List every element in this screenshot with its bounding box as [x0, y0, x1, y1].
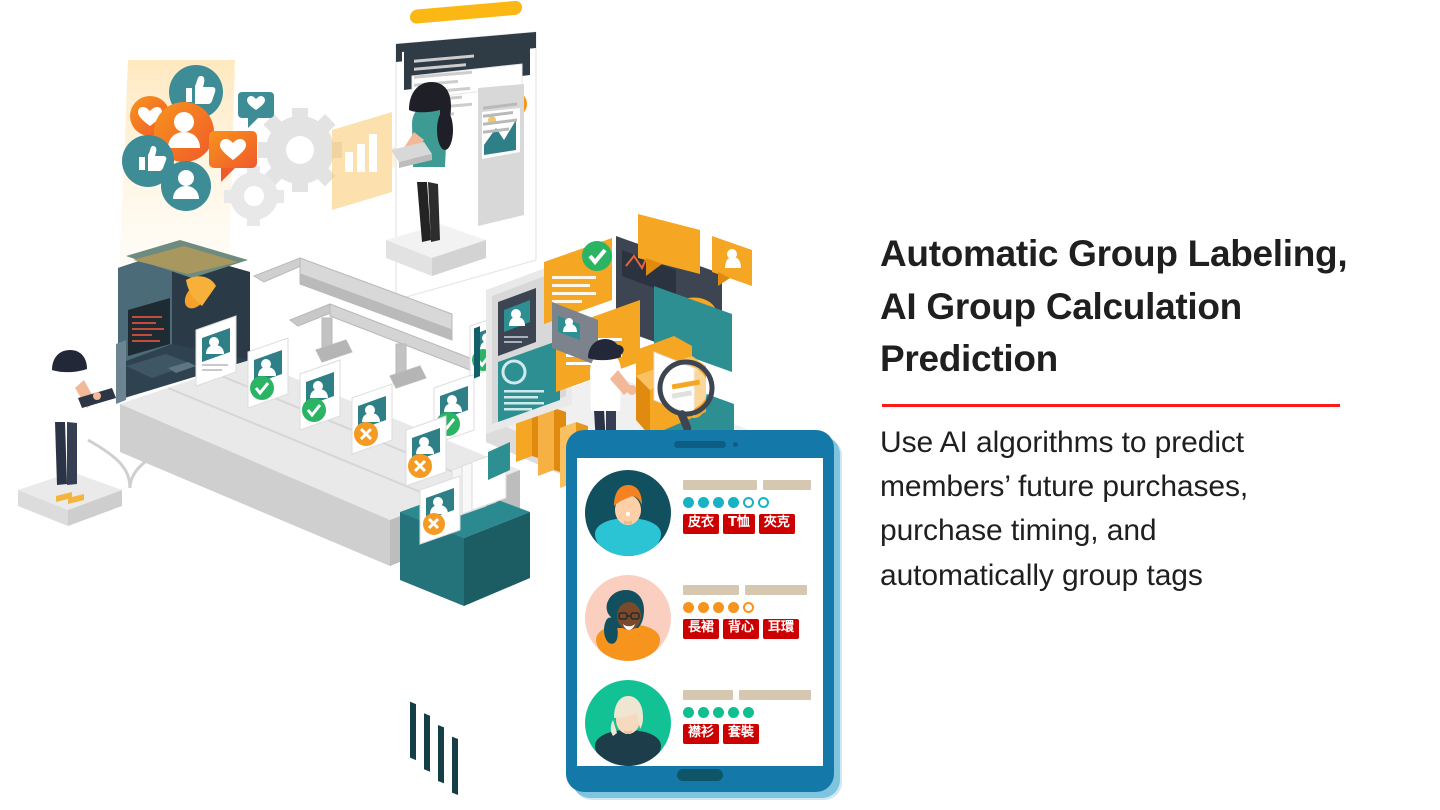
avatar [585, 470, 671, 556]
member-tag[interactable]: 夾克 [759, 514, 795, 534]
rating-dot [698, 707, 709, 718]
rating-dot [728, 497, 739, 508]
name-bar-primary [683, 690, 733, 700]
rating-dot [713, 497, 724, 508]
rating-dot [683, 497, 694, 508]
member-tag[interactable]: T恤 [723, 514, 755, 534]
tablet-device: 皮衣 T恤 夾克 [566, 430, 834, 792]
headline-line: Prediction [880, 338, 1058, 379]
member-tags: 皮衣 T恤 夾克 [683, 514, 809, 534]
member-rating [683, 602, 809, 613]
member-tag[interactable]: 套裝 [723, 724, 759, 744]
member-list-item[interactable]: 皮衣 T恤 夾克 [577, 470, 823, 572]
subtext-line: purchase timing, and [880, 514, 1157, 547]
text-panel: Automatic Group Labeling, AI Group Calcu… [880, 228, 1350, 598]
rating-dot [683, 602, 694, 613]
title-divider [882, 404, 1340, 407]
rating-dot [683, 707, 694, 718]
page-title: Automatic Group Labeling, AI Group Calcu… [880, 228, 1350, 386]
rating-dot [728, 707, 739, 718]
subtext-line: Use AI algorithms to predict [880, 426, 1244, 459]
tablet-screen: 皮衣 T恤 夾克 [577, 458, 823, 766]
slide-root: 皮衣 T恤 夾克 [0, 0, 1440, 810]
member-tag[interactable]: 背心 [723, 619, 759, 639]
rating-dot [713, 602, 724, 613]
member-rating [683, 707, 811, 718]
name-bar-secondary [763, 480, 811, 490]
member-tags: 長裙 背心 耳環 [683, 619, 809, 639]
member-name-placeholder [683, 690, 811, 700]
rating-dot [743, 707, 754, 718]
tablet-home-button[interactable] [677, 769, 723, 781]
rating-dot [728, 602, 739, 613]
tablet-speaker [674, 441, 726, 448]
headline-line: Automatic Group Labeling, [880, 233, 1347, 274]
member-rating [683, 497, 811, 508]
avatar [585, 680, 671, 766]
member-tag[interactable]: 皮衣 [683, 514, 719, 534]
name-bar-secondary [745, 585, 807, 595]
page-subtitle: Use AI algorithms to predict members’ fu… [880, 421, 1350, 599]
rating-dot [743, 602, 754, 613]
member-info: 襟衫 套裝 [683, 680, 811, 744]
rating-dot [713, 707, 724, 718]
member-tag[interactable]: 襟衫 [683, 724, 719, 744]
name-bar-primary [683, 585, 739, 595]
rating-dot [758, 497, 769, 508]
member-info: 長裙 背心 耳環 [683, 575, 809, 639]
avatar [585, 575, 671, 661]
member-info: 皮衣 T恤 夾克 [683, 470, 811, 534]
rating-dot [698, 497, 709, 508]
name-bar-primary [683, 480, 757, 490]
member-tag[interactable]: 長裙 [683, 619, 719, 639]
subtext-line: automatically group tags [880, 559, 1203, 592]
headline-line: AI Group Calculation [880, 286, 1242, 327]
tablet-camera-icon [733, 442, 738, 447]
member-list-item[interactable]: 襟衫 套裝 [577, 680, 823, 766]
member-tag[interactable]: 耳環 [763, 619, 799, 639]
member-name-placeholder [683, 480, 811, 490]
name-bar-secondary [739, 690, 811, 700]
rating-dot [743, 497, 754, 508]
subtext-line: members’ future purchases, [880, 470, 1248, 503]
member-list-item[interactable]: 長裙 背心 耳環 [577, 575, 823, 677]
member-name-placeholder [683, 585, 809, 595]
member-tags: 襟衫 套裝 [683, 724, 809, 744]
rating-dot [698, 602, 709, 613]
